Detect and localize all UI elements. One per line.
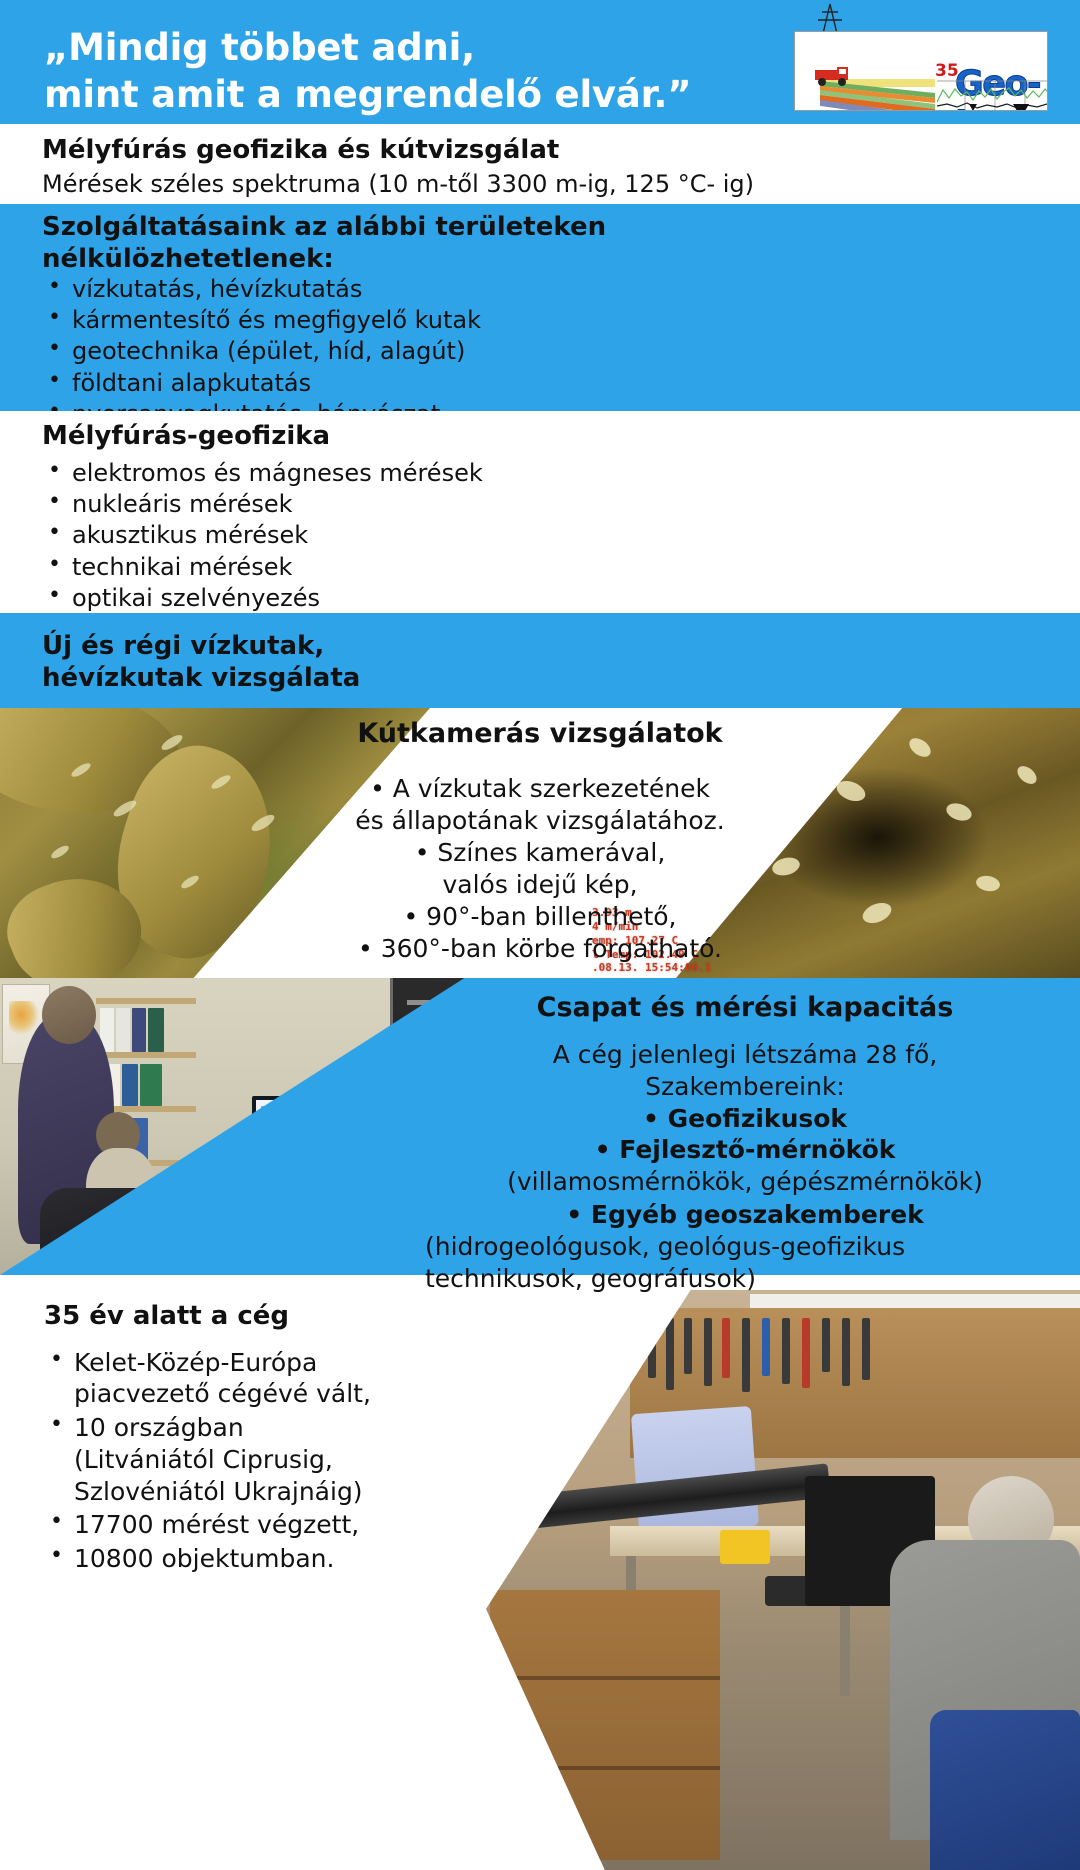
office-chair — [930, 1710, 1080, 1870]
list-item: 10 országban (Litvániától Ciprusig, Szlo… — [44, 1412, 514, 1507]
team-bullet-3: • Egyéb geoszakemberek — [566, 1200, 924, 1229]
team-bullet-2: • Fejlesztő-mérnökök — [595, 1135, 896, 1164]
team-bullet-2-note: (villamosmérnökök, gépészmérnökök) — [507, 1167, 983, 1196]
list-item: nukleáris mérések — [42, 489, 483, 520]
list-item: optikai szelvényezés — [42, 583, 483, 614]
geophysics-list: elektromos és mágneses mérések nukleáris… — [42, 458, 483, 614]
section-geophysics: Mélyfúrás-geofizika elektromos és mágnes… — [0, 411, 1080, 613]
company-slogan: „Mindig többet adni, mint amit a megrend… — [44, 24, 691, 119]
services-title: Szolgáltatásaink az alábbi területeken n… — [42, 212, 606, 275]
list-item: akusztikus mérések — [42, 520, 483, 551]
team-title: Csapat és mérési kapacitás — [415, 992, 1075, 1025]
milestones-list: Kelet-Közép-Európa piacvezető cégévé vál… — [44, 1347, 514, 1575]
list-item: földtani alapkutatás — [42, 368, 481, 399]
drilling-subtitle: Mérések széles spektruma (10 m-től 3300 … — [42, 169, 754, 199]
camera-copy: Kútkamerás vizsgálatok • A vízkutak szer… — [260, 718, 820, 965]
section-milestones: 35 év alatt a cég Kelet-Közép-Európa pia… — [44, 1301, 514, 1577]
list-item: 10800 objektumban. — [44, 1543, 514, 1575]
logo-frame: 35 Geo-Log — [794, 31, 1048, 111]
list-item: 17700 mérést végzett, — [44, 1509, 514, 1541]
milestones-title: 35 év alatt a cég — [44, 1301, 514, 1333]
list-item: Kelet-Közép-Európa piacvezető cégévé vál… — [44, 1347, 514, 1411]
camera-title: Kútkamerás vizsgálatok — [260, 718, 820, 751]
person-head — [42, 986, 96, 1044]
section-services: Szolgáltatásaink az alábbi területeken n… — [0, 204, 1080, 411]
header-banner: „Mindig többet adni, mint amit a megrend… — [0, 0, 1080, 124]
team-intro: A cég jelenlegi létszáma 28 fő, Szakembe… — [415, 1039, 1075, 1103]
section-drilling: Mélyfúrás geofizika és kútvizsgálat Méré… — [0, 124, 1080, 204]
list-item: geotechnika (épület, híd, alagút) — [42, 336, 481, 367]
wells-title: Új és régi vízkutak, hévízkutak vizsgála… — [42, 631, 360, 694]
section-team: Csapat és mérési kapacitás A cég jelenle… — [415, 992, 1075, 1295]
drilling-title: Mélyfúrás geofizika és kútvizsgálat — [42, 135, 559, 167]
list-item: vízkutatás, hévízkutatás — [42, 274, 481, 305]
poster-root: „Mindig többet adni, mint amit a megrend… — [0, 0, 1080, 1870]
section-wells: Új és régi vízkutak, hévízkutak vizsgála… — [0, 613, 1080, 708]
list-item: technikai mérések — [42, 552, 483, 583]
geophysics-title: Mélyfúrás-geofizika — [42, 421, 330, 453]
team-bullet-3-note: (hidrogeológusok, geológus-geofizikus te… — [415, 1231, 1075, 1295]
list-item: kármentesítő és megfigyelő kutak — [42, 305, 481, 336]
team-bullet-1: • Geofizikusok — [643, 1104, 847, 1133]
camera-bullets: • A vízkutak szerkezetének és állapotána… — [260, 773, 820, 965]
company-logo[interactable]: 35 Geo-Log — [770, 2, 1048, 112]
well-log-curve-icon — [937, 80, 1048, 111]
yellow-tray — [720, 1530, 770, 1564]
logging-truck-icon — [813, 62, 851, 88]
list-item: elektromos és mágneses mérések — [42, 458, 483, 489]
services-list: vízkutatás, hévízkutatás kármentesítő és… — [42, 274, 481, 430]
